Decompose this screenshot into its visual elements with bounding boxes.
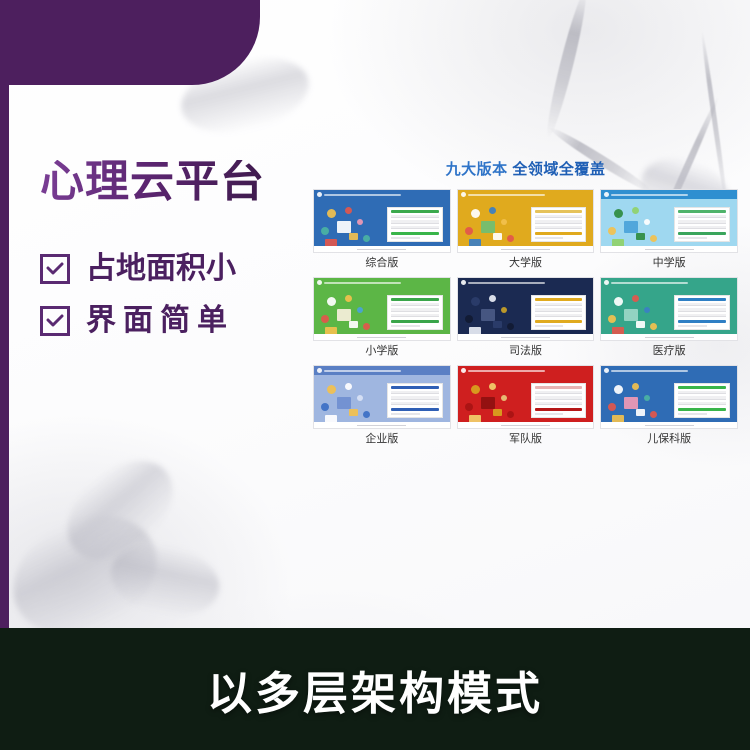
login-title-bar (391, 298, 439, 301)
brand-title-line (611, 370, 688, 372)
versions-heading-part1: 九大版本 (446, 161, 508, 178)
login-input-field (391, 220, 439, 223)
brand-logo-icon (461, 192, 466, 197)
versions-panel: 九大版本 全领域全覆盖 综合版大学版中学版小学版司法版医疗版企业版军队版儿保科版 (313, 158, 738, 449)
brand-title-line (324, 370, 401, 372)
illustration-shape (614, 209, 623, 218)
left-content-column: 心理云平台 占地面积小 界面简单 (40, 160, 310, 358)
version-card-label: 儿保科版 (600, 434, 738, 445)
brand-title-line (611, 282, 688, 284)
illustration-shape (363, 235, 370, 242)
login-title-bar (535, 298, 583, 301)
login-input-field (535, 314, 583, 317)
brand-title-line (468, 194, 545, 196)
login-input-field (678, 226, 726, 229)
card-footer-bar (601, 334, 737, 340)
brand-logo-icon (461, 368, 466, 373)
version-card-preview[interactable] (457, 365, 595, 429)
book-nature-illustration-icon (606, 205, 674, 243)
illustration-shape (481, 309, 495, 321)
login-submit-button (391, 232, 439, 235)
login-input-field (678, 396, 726, 399)
officers-illustration-icon (463, 293, 531, 331)
login-submit-button (391, 320, 439, 323)
illustration-shape (493, 233, 502, 240)
illustration-shape (614, 297, 623, 306)
login-input-field (391, 215, 439, 218)
version-card-preview[interactable] (600, 365, 738, 429)
illustration-shape (501, 395, 507, 401)
illustration-shape (644, 307, 650, 313)
illustration-shape (644, 219, 650, 225)
login-form-preview (387, 207, 443, 242)
illustration-shape (349, 233, 358, 240)
login-input-field (535, 226, 583, 229)
card-artwork-area (458, 375, 594, 422)
card-header-bar (458, 190, 594, 199)
illustration-shape (632, 295, 639, 302)
card-footer-bar (458, 334, 594, 340)
login-title-bar (535, 210, 583, 213)
illustration-shape (624, 309, 638, 321)
illustration-shape (493, 321, 502, 328)
brand-logo-icon (461, 280, 466, 285)
version-cell: 综合版 (313, 189, 451, 273)
card-footer-bar (314, 246, 450, 252)
page-title: 心理云平台 (40, 160, 310, 204)
version-card-label: 大学版 (457, 258, 595, 269)
login-title-bar (678, 210, 726, 213)
login-input-field (391, 396, 439, 399)
footer-copyright-line (357, 249, 406, 250)
illustration-shape (321, 403, 329, 411)
card-footer-bar (314, 422, 450, 428)
feature-label: 界面简单 (86, 306, 234, 336)
card-header-bar (458, 366, 594, 375)
login-form-preview (531, 295, 587, 330)
illustration-shape (465, 315, 473, 323)
illustration-shape (632, 207, 639, 214)
login-submit-button (391, 408, 439, 411)
version-card-preview[interactable] (313, 189, 451, 253)
card-footer-bar (601, 246, 737, 252)
illustration-shape (321, 315, 329, 323)
version-card-preview[interactable] (313, 365, 451, 429)
login-input-field (535, 396, 583, 399)
version-cell: 司法版 (457, 277, 595, 361)
login-submit-button (678, 320, 726, 323)
brand-title-line (324, 282, 401, 284)
card-artwork-area (601, 199, 737, 246)
login-title-bar (535, 386, 583, 389)
brand-logo-icon (604, 280, 609, 285)
footer-copyright-line (645, 337, 694, 338)
login-form-preview (531, 207, 587, 242)
login-input-field (678, 402, 726, 405)
version-card-label: 军队版 (457, 434, 595, 445)
login-input-field (535, 303, 583, 306)
login-form-preview (387, 383, 443, 418)
login-form-preview (674, 207, 730, 242)
card-header-bar (314, 278, 450, 287)
illustration-shape (327, 385, 336, 394)
login-input-field (391, 402, 439, 405)
monitor-illustration-icon (463, 205, 531, 243)
illustration-shape (489, 207, 496, 214)
illustration-shape (337, 221, 351, 233)
team-illustration-icon (319, 381, 387, 419)
login-input-field (678, 314, 726, 317)
login-input-field (678, 391, 726, 394)
card-artwork-area (601, 287, 737, 334)
version-cell: 中学版 (600, 189, 738, 273)
card-artwork-area (601, 375, 737, 422)
brand-title-line (611, 194, 688, 196)
version-cell: 医疗版 (600, 277, 738, 361)
illustration-shape (493, 409, 502, 416)
illustration-shape (471, 209, 480, 218)
brand-title-line (468, 370, 545, 372)
card-artwork-area (314, 287, 450, 334)
versions-heading-part2: 全领域全覆盖 (512, 161, 605, 178)
footer-copyright-line (501, 425, 550, 426)
illustration-shape (644, 395, 650, 401)
illustration-shape (357, 307, 363, 313)
login-input-field (535, 220, 583, 223)
version-card-label: 中学版 (600, 258, 738, 269)
login-input-field (678, 220, 726, 223)
emblem-illustration-icon (463, 381, 531, 419)
login-submit-button (535, 320, 583, 323)
feature-item: 占地面积小 (40, 254, 310, 284)
login-footnote (678, 325, 707, 327)
brand-title-line (324, 194, 401, 196)
brand-logo-icon (317, 192, 322, 197)
version-cell: 小学版 (313, 277, 451, 361)
login-form-preview (531, 383, 587, 418)
login-form-preview (387, 295, 443, 330)
illustration-shape (481, 221, 495, 233)
login-input-field (535, 391, 583, 394)
illustration-shape (501, 219, 507, 225)
login-submit-button (678, 232, 726, 235)
login-input-field (535, 215, 583, 218)
illustration-shape (465, 403, 473, 411)
idea-illustration-icon (319, 205, 387, 243)
illustration-shape (489, 295, 496, 302)
login-footnote (391, 325, 420, 327)
footer-copyright-line (357, 337, 406, 338)
login-footnote (678, 237, 707, 239)
feature-list: 占地面积小 界面简单 (40, 254, 310, 336)
login-input-field (535, 308, 583, 311)
login-title-bar (678, 298, 726, 301)
login-title-bar (391, 386, 439, 389)
version-card-preview[interactable] (313, 277, 451, 341)
login-input-field (391, 314, 439, 317)
illustration-shape (349, 409, 358, 416)
illustration-shape (636, 321, 645, 328)
illustration-shape (608, 403, 616, 411)
clipboard-illustration-icon (606, 293, 674, 331)
login-input-field (391, 226, 439, 229)
card-footer-bar (601, 422, 737, 428)
feature-label: 占地面积小 (86, 254, 236, 284)
illustration-shape (327, 209, 336, 218)
card-header-bar (314, 366, 450, 375)
illustration-shape (608, 315, 616, 323)
illustration-shape (345, 207, 352, 214)
bottom-banner: 以多层架构模式 (0, 628, 750, 750)
card-artwork-area (314, 375, 450, 422)
header-purple-shape (0, 0, 260, 85)
illustration-shape (614, 385, 623, 394)
illustration-shape (632, 383, 639, 390)
login-footnote (678, 413, 707, 415)
login-submit-button (535, 232, 583, 235)
footer-copyright-line (357, 425, 406, 426)
login-submit-button (678, 408, 726, 411)
login-footnote (535, 325, 564, 327)
brand-logo-icon (604, 368, 609, 373)
login-title-bar (678, 386, 726, 389)
version-card-preview[interactable] (600, 189, 738, 253)
illustration-shape (357, 395, 363, 401)
illustration-shape (471, 385, 480, 394)
illustration-shape (327, 297, 336, 306)
illustration-shape (471, 297, 480, 306)
illustration-shape (636, 233, 645, 240)
card-footer-bar (314, 334, 450, 340)
version-card-label: 小学版 (313, 346, 451, 357)
version-cell: 军队版 (457, 365, 595, 449)
illustration-shape (337, 397, 351, 409)
illustration-shape (363, 323, 370, 330)
version-card-label: 企业版 (313, 434, 451, 445)
illustration-shape (337, 309, 351, 321)
illustration-shape (507, 235, 514, 242)
version-card-label: 医疗版 (600, 346, 738, 357)
login-footnote (535, 413, 564, 415)
login-input-field (678, 303, 726, 306)
version-card-preview[interactable] (600, 277, 738, 341)
brand-title-line (468, 282, 545, 284)
version-cell: 儿保科版 (600, 365, 738, 449)
login-form-preview (674, 295, 730, 330)
login-footnote (391, 413, 420, 415)
feature-item: 界面简单 (40, 306, 310, 336)
illustration-shape (650, 411, 657, 418)
footer-copyright-line (645, 249, 694, 250)
illustration-shape (357, 219, 363, 225)
kids-illustration-icon (606, 381, 674, 419)
illustration-shape (349, 321, 358, 328)
login-input-field (535, 402, 583, 405)
card-artwork-area (314, 199, 450, 246)
footer-copyright-line (645, 425, 694, 426)
checkbox-check-icon (40, 306, 70, 336)
login-footnote (535, 237, 564, 239)
card-header-bar (314, 190, 450, 199)
card-footer-bar (458, 422, 594, 428)
version-card-label: 综合版 (313, 258, 451, 269)
version-cell: 大学版 (457, 189, 595, 273)
illustration-shape (489, 383, 496, 390)
card-header-bar (458, 278, 594, 287)
versions-grid: 综合版大学版中学版小学版司法版医疗版企业版军队版儿保科版 (313, 189, 738, 449)
login-submit-button (535, 408, 583, 411)
illustration-shape (321, 227, 329, 235)
illustration-shape (636, 409, 645, 416)
login-input-field (391, 303, 439, 306)
login-input-field (391, 308, 439, 311)
card-artwork-area (458, 287, 594, 334)
brand-logo-icon (604, 192, 609, 197)
brand-logo-icon (317, 368, 322, 373)
login-input-field (678, 308, 726, 311)
illustration-shape (608, 227, 616, 235)
illustration-shape (481, 397, 495, 409)
login-input-field (678, 215, 726, 218)
illustration-shape (345, 295, 352, 302)
illustration-shape (465, 227, 473, 235)
card-header-bar (601, 190, 737, 199)
card-header-bar (601, 278, 737, 287)
login-title-bar (391, 210, 439, 213)
versions-heading: 九大版本 全领域全覆盖 (313, 158, 738, 179)
version-card-preview[interactable] (457, 189, 595, 253)
checkbox-check-icon (40, 254, 70, 284)
books-illustration-icon (319, 293, 387, 331)
brand-logo-icon (317, 280, 322, 285)
login-form-preview (674, 383, 730, 418)
poster-root: 心理云平台 占地面积小 界面简单 (0, 0, 750, 750)
illustration-shape (501, 307, 507, 313)
version-card-label: 司法版 (457, 346, 595, 357)
card-header-bar (601, 366, 737, 375)
login-input-field (391, 391, 439, 394)
card-footer-bar (458, 246, 594, 252)
illustration-shape (624, 221, 638, 233)
illustration-shape (345, 383, 352, 390)
illustration-shape (650, 323, 657, 330)
illustration-shape (507, 411, 514, 418)
illustration-shape (507, 323, 514, 330)
banner-text: 以多层架构模式 (207, 657, 543, 722)
version-card-preview[interactable] (457, 277, 595, 341)
version-cell: 企业版 (313, 365, 451, 449)
illustration-shape (624, 397, 638, 409)
login-footnote (391, 237, 420, 239)
card-artwork-area (458, 199, 594, 246)
footer-copyright-line (501, 337, 550, 338)
footer-copyright-line (501, 249, 550, 250)
illustration-shape (363, 411, 370, 418)
illustration-shape (650, 235, 657, 242)
